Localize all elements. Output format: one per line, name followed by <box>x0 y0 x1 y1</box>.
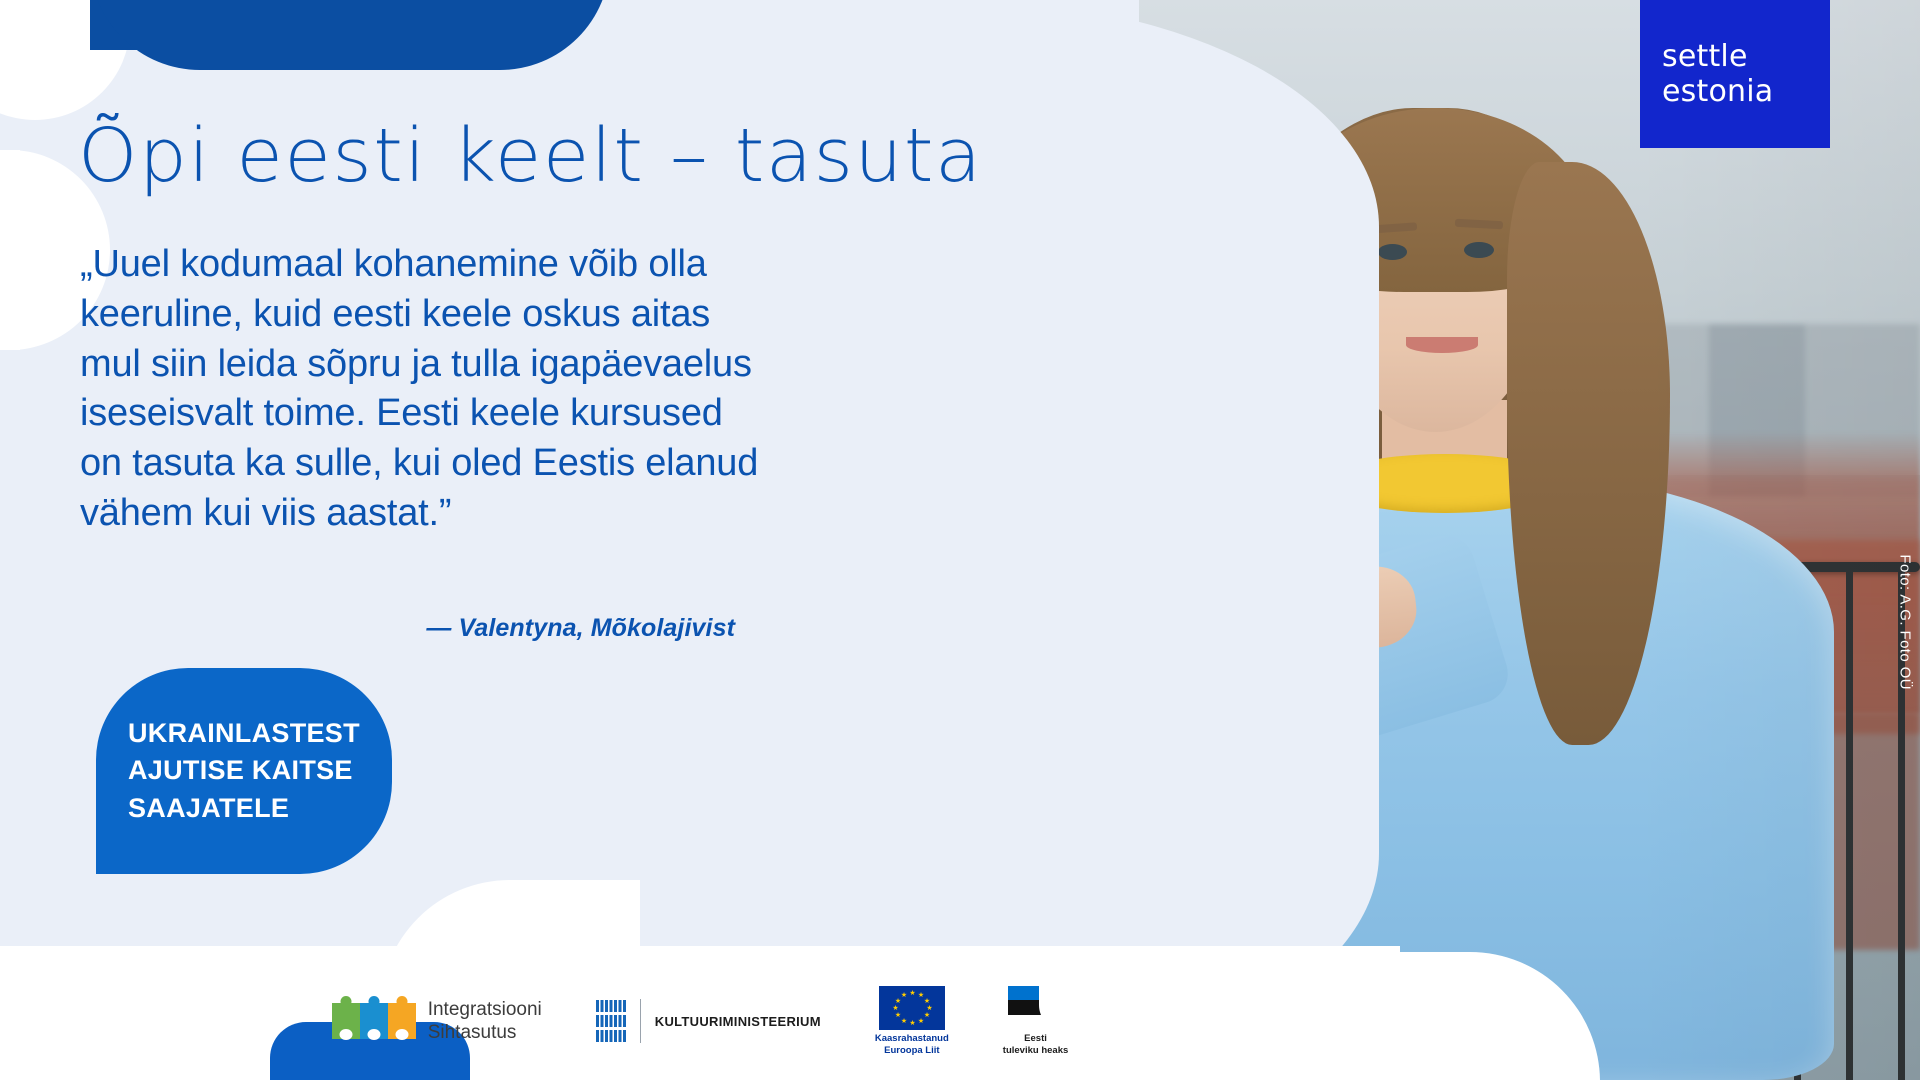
decor-blue-ribbon-top <box>90 0 610 70</box>
puzzle-icon <box>332 1003 416 1039</box>
puzzle-piece-blue <box>360 1003 388 1039</box>
insa-line-2: Sihtasutus <box>428 1021 542 1044</box>
poster-canvas: Foto: A.G. Foto OÜ settle estonia Õpi ee… <box>0 0 1920 1080</box>
lion-2 <box>596 1015 626 1027</box>
puzzle-piece-orange <box>388 1003 416 1039</box>
quote-text: „Uuel kodumaal kohanemine võib olla keer… <box>80 240 770 539</box>
logo-eesti-tuleviku-heaks[interactable]: Eesti tuleviku heaks <box>1003 986 1068 1057</box>
insa-line-1: Integratsiooni <box>428 998 542 1021</box>
ee-caption: Eesti tuleviku heaks <box>1003 1033 1068 1057</box>
page-title: Õpi eesti keelt – tasuta <box>78 113 983 199</box>
estonian-coat-of-arms-icon <box>596 999 626 1043</box>
insa-label: Integratsiooni Sihtasutus <box>428 998 542 1044</box>
portrait-photo: Foto: A.G. Foto OÜ <box>960 0 1920 1080</box>
logo-euroopa-liit[interactable]: ★ ★ ★ ★ ★ ★ ★ ★ ★ ★ ★ ★ Kaasrahastanud E… <box>875 986 949 1057</box>
badge-line-2: AJUTISE KAITSE <box>128 752 360 789</box>
footer-logo-strip: Integratsiooni Sihtasutus KULTUURIMINIST… <box>0 962 1400 1080</box>
eu-flag-icon: ★ ★ ★ ★ ★ ★ ★ ★ ★ ★ ★ ★ <box>879 986 945 1030</box>
logo-divider <box>640 999 641 1043</box>
logo-kultuuriministeerium[interactable]: KULTUURIMINISTEERIUM <box>596 999 821 1043</box>
logo-line-2: estonia <box>1662 74 1830 109</box>
badge-line-1: UKRAINLASTEST <box>128 715 360 752</box>
photo-curved-mask <box>960 0 1379 1080</box>
photo-credit: Foto: A.G. Foto OÜ <box>1897 554 1914 690</box>
photo-mask-top <box>960 0 1139 58</box>
eu-caption: Kaasrahastanud Euroopa Liit <box>875 1033 949 1057</box>
ministry-label: KULTUURIMINISTEERIUM <box>655 1014 821 1029</box>
badge-text: UKRAINLASTEST AJUTISE KAITSE SAAJATELE <box>96 715 360 827</box>
lion-1 <box>596 1000 626 1012</box>
logo-line-1: settle <box>1662 39 1830 74</box>
lion-3 <box>596 1030 626 1042</box>
estonian-flag-icon <box>1008 986 1064 1030</box>
logo-integratsiooni-sihtasutus[interactable]: Integratsiooni Sihtasutus <box>332 998 542 1044</box>
ee-caption-line-2: tuleviku heaks <box>1003 1045 1068 1057</box>
badge-line-3: SAAJATELE <box>128 790 360 827</box>
quote-attribution: — Valentyna, Mõkolajivist <box>80 614 735 643</box>
ee-caption-line-1: Eesti <box>1003 1033 1068 1045</box>
puzzle-piece-green <box>332 1003 360 1039</box>
settle-estonia-logo[interactable]: settle estonia <box>1640 0 1830 148</box>
target-audience-badge: UKRAINLASTEST AJUTISE KAITSE SAAJATELE <box>96 668 392 874</box>
eu-caption-line-2: Euroopa Liit <box>875 1045 949 1057</box>
eu-caption-line-1: Kaasrahastanud <box>875 1033 949 1045</box>
